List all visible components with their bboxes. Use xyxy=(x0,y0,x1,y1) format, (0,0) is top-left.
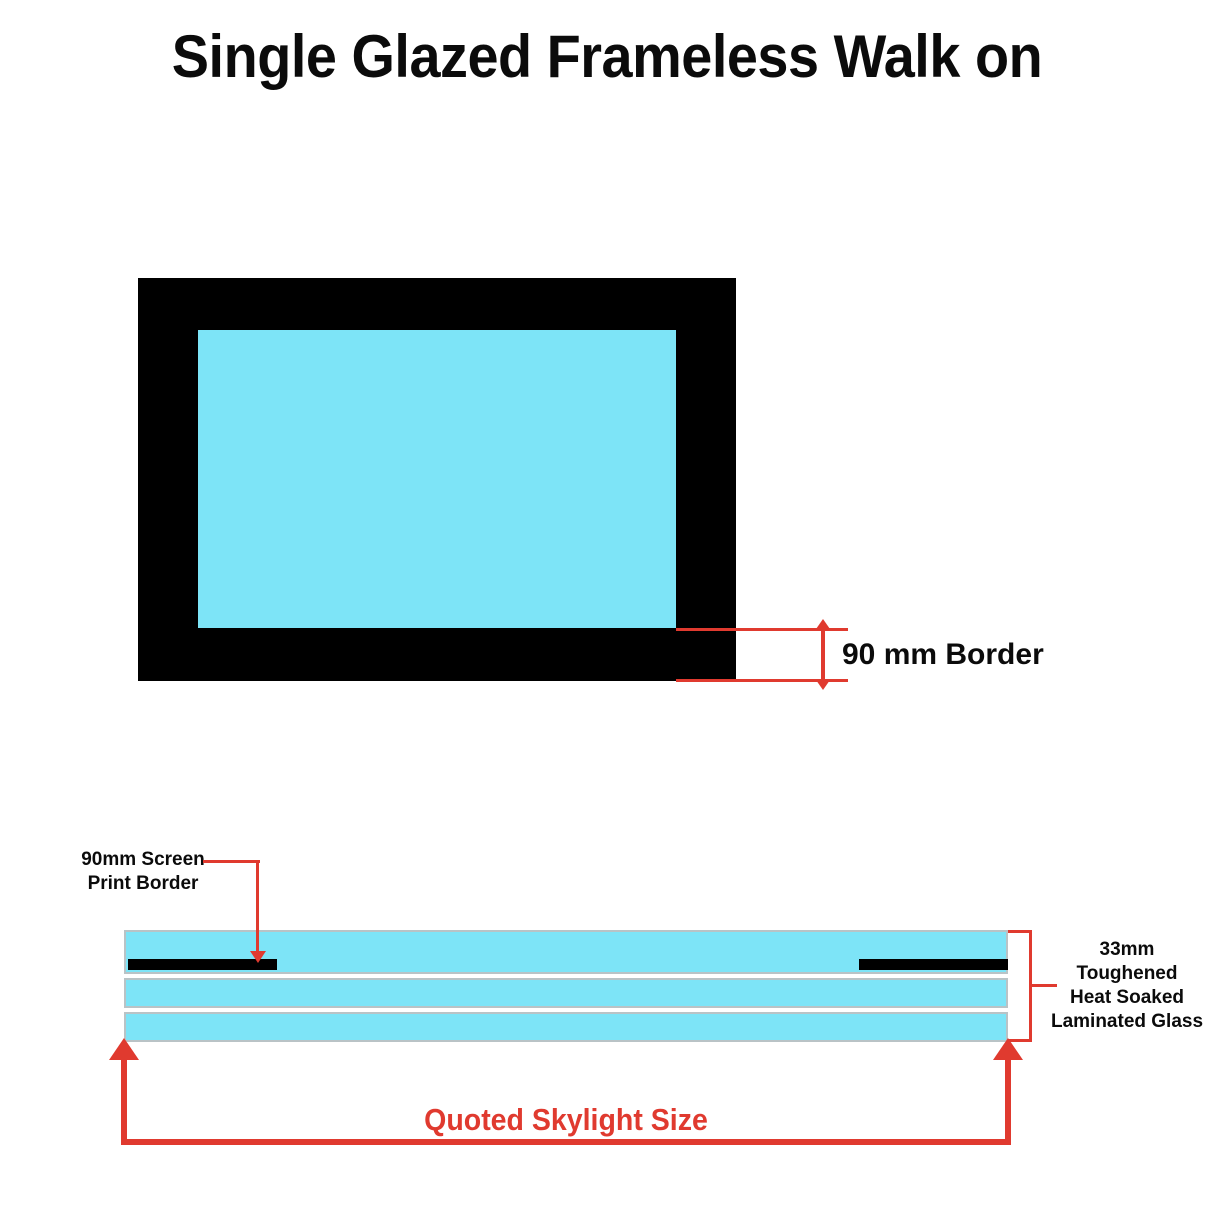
quoted-size-arrowhead-right-icon xyxy=(993,1038,1023,1060)
screen-print-border-callout: 90mm Screen Print Border xyxy=(18,848,268,896)
quoted-size-arrowhead-left-icon xyxy=(109,1038,139,1060)
page-title: Single Glazed Frameless Walk on xyxy=(42,22,1171,92)
screen-print-callout-line-2: Print Border xyxy=(18,872,268,896)
diagram-canvas: Single Glazed Frameless Walk on 90 mm Bo… xyxy=(0,0,1214,1214)
glass-layer-inner-pane xyxy=(124,1012,1008,1042)
screen-print-leader-horizontal xyxy=(203,860,260,863)
skylight-plan-outer-border xyxy=(138,278,736,681)
screen-print-band-right xyxy=(859,959,1008,970)
glass-spec-line-3: Heat Soaked xyxy=(1043,986,1211,1010)
glass-spec-line-4: Laminated Glass xyxy=(1043,1010,1211,1034)
glass-layer-interlayer-pane xyxy=(124,978,1008,1008)
glass-spec-line-2: Toughened xyxy=(1043,962,1211,986)
quoted-size-label: Quoted Skylight Size xyxy=(157,1101,976,1139)
skylight-plan-vision-area xyxy=(198,330,676,628)
glass-specification-callout: 33mm Toughened Heat Soaked Laminated Gla… xyxy=(1043,938,1211,1034)
screen-print-leader-arrow-icon xyxy=(256,860,259,952)
glass-spec-line-1: 33mm xyxy=(1043,938,1211,962)
border-dimension-arrow-icon xyxy=(821,628,825,681)
border-dimension-label: 90 mm Border xyxy=(842,636,1044,674)
